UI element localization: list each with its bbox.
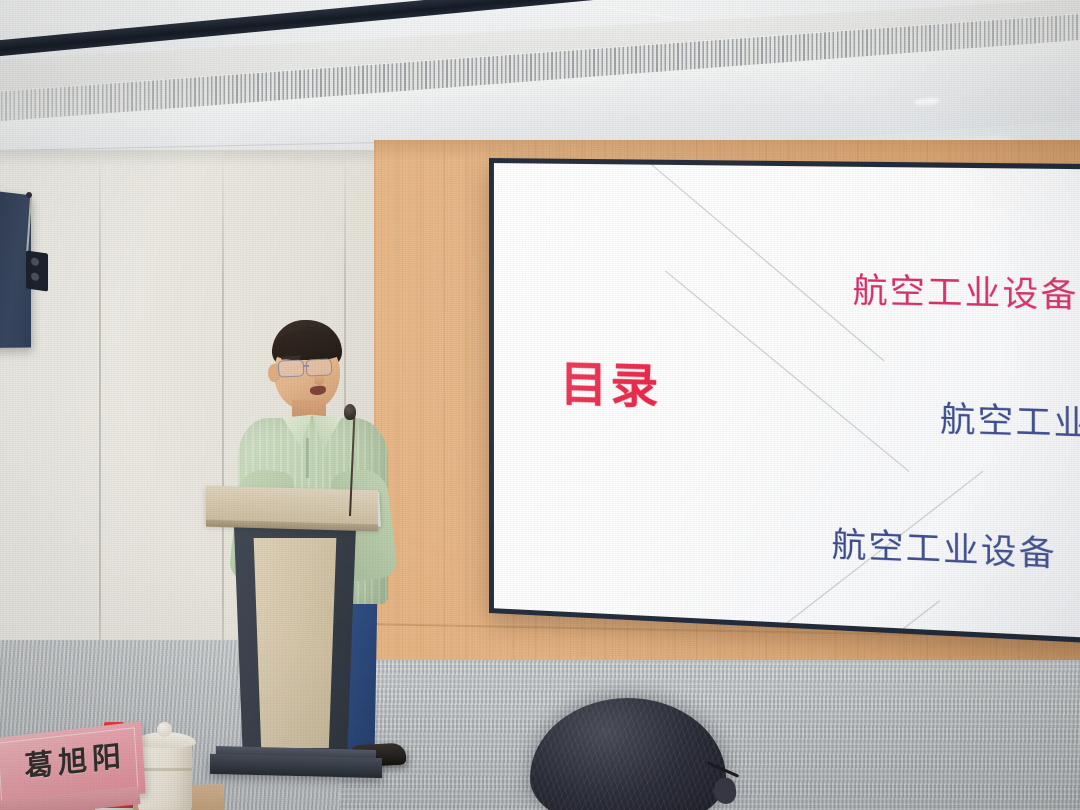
toc-item-1: 航空工业设备 <box>853 273 1079 312</box>
tea-cup-ridge <box>138 768 192 771</box>
tea-cup <box>138 738 192 810</box>
wood-wall-top-shadow <box>374 140 1080 160</box>
projection-screen-surface: 目录 航空工业设备 航空工业 航空工业设备 <box>494 163 1080 639</box>
shirt-placket <box>306 438 309 478</box>
wall-panel-seam <box>99 150 101 710</box>
slide-title: 目录 <box>560 361 661 412</box>
toc-item-3: 航空工业设备 <box>831 527 1056 571</box>
presentation-slide: 目录 航空工业设备 航空工业 航空工业设备 <box>494 163 1080 639</box>
podium-base <box>210 754 382 778</box>
glasses-bridge <box>303 365 309 367</box>
tea-cup-knob <box>157 722 172 737</box>
glasses-icon <box>278 359 305 377</box>
podium-front-panel <box>248 538 342 748</box>
wall-top-shadow <box>0 150 378 166</box>
speaker-nose <box>314 373 324 385</box>
panel-anchor-icon <box>26 192 32 198</box>
microphone-icon <box>344 404 356 420</box>
toc-item-2: 航空工业 <box>940 402 1080 441</box>
wall-panel-seam <box>222 150 224 710</box>
projection-screen[interactable]: 目录 航空工业设备 航空工业 航空工业设备 <box>489 158 1080 644</box>
panel-mount-bracket <box>26 250 48 291</box>
presentation-photo-scene: 目录 航空工业设备 航空工业 航空工业设备 <box>0 0 1080 810</box>
chevron-line <box>645 163 885 361</box>
